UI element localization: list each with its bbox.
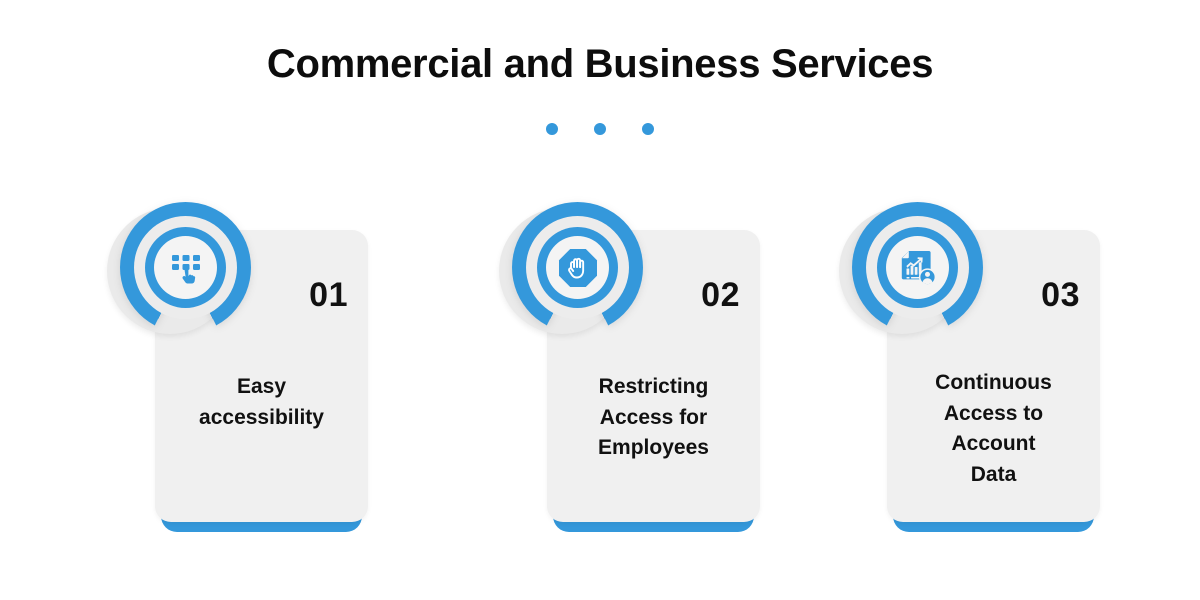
card-label: Continuous Access to Account Data (899, 368, 1088, 491)
card-item[interactable]: 01 Easy accessibility (155, 230, 368, 532)
card-icon-badge (839, 202, 983, 346)
report-chart-user-icon (897, 247, 939, 289)
stop-hand-icon (557, 247, 599, 289)
keypad-touch-icon (166, 248, 206, 288)
card-number: 02 (701, 276, 740, 315)
card-icon-badge (499, 202, 643, 346)
card-row: 01 Easy accessibility (0, 0, 1200, 600)
badge-core (154, 236, 217, 299)
card-icon-badge (107, 202, 251, 346)
badge-core (546, 236, 609, 299)
infographic-page: Commercial and Business Services 01 Easy… (0, 0, 1200, 600)
card-number: 03 (1041, 276, 1080, 315)
card-label: Easy accessibility (167, 372, 356, 433)
badge-core (886, 236, 949, 299)
card-number: 01 (309, 276, 348, 315)
card-item[interactable]: 03 Continuous Access to Account Data (887, 230, 1100, 532)
card-label: Restricting Access for Employees (559, 372, 748, 464)
card-item[interactable]: 02 Restricting Access for Employees (547, 230, 760, 532)
